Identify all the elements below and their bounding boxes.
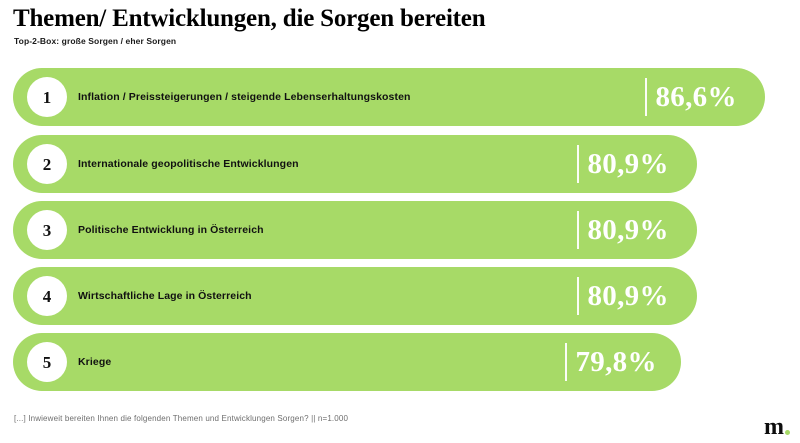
bar-value-4: 80,9% [588, 282, 669, 311]
bar-label-2: Internationale geopolitische Entwicklung… [78, 135, 299, 193]
rank-badge-4: 4 [27, 276, 67, 316]
chart-page: Themen/ Entwicklungen, die Sorgen bereit… [0, 0, 800, 443]
value-separator-icon [577, 211, 579, 249]
bar-value-group-3: 80,9% [577, 201, 669, 259]
bar-value-group-4: 80,9% [577, 267, 669, 325]
bar-label-1: Inflation / Preissteigerungen / steigend… [78, 68, 411, 126]
rank-number: 3 [43, 222, 52, 239]
chart-row-1: 1 Inflation / Preissteigerungen / steige… [13, 68, 765, 126]
rank-badge-2: 2 [27, 144, 67, 184]
value-separator-icon [565, 343, 567, 381]
chart-row-3: 3 Politische Entwicklung in Österreich 8… [13, 201, 697, 259]
bar-value-1: 86,6% [656, 83, 737, 112]
rank-badge-1: 1 [27, 77, 67, 117]
rank-badge-3: 3 [27, 210, 67, 250]
bar-value-group-2: 80,9% [577, 135, 669, 193]
bar-value-5: 79,8% [576, 348, 657, 377]
logo-dot-icon [785, 430, 790, 435]
bar-value-group-1: 86,6% [645, 68, 737, 126]
chart-row-2: 2 Internationale geopolitische Entwicklu… [13, 135, 697, 193]
bar-value-group-5: 79,8% [565, 333, 657, 391]
rank-badge-5: 5 [27, 342, 67, 382]
rank-number: 2 [43, 156, 52, 173]
source-note: [...] Inwieweit bereiten Ihnen die folge… [14, 414, 348, 423]
rank-number: 1 [43, 89, 52, 106]
bar-value-2: 80,9% [588, 150, 669, 179]
value-separator-icon [577, 145, 579, 183]
rank-number: 4 [43, 288, 52, 305]
logo-letter: m [764, 417, 784, 437]
value-separator-icon [577, 277, 579, 315]
value-separator-icon [645, 78, 647, 116]
chart-row-5: 5 Kriege 79,8% [13, 333, 681, 391]
bar-label-5: Kriege [78, 333, 111, 391]
bar-chart: 1 Inflation / Preissteigerungen / steige… [0, 0, 800, 443]
bar-value-3: 80,9% [588, 216, 669, 245]
rank-number: 5 [43, 354, 52, 371]
chart-row-4: 4 Wirtschaftliche Lage in Österreich 80,… [13, 267, 697, 325]
bar-label-3: Politische Entwicklung in Österreich [78, 201, 264, 259]
bar-label-4: Wirtschaftliche Lage in Österreich [78, 267, 252, 325]
brand-logo: m [764, 417, 790, 437]
